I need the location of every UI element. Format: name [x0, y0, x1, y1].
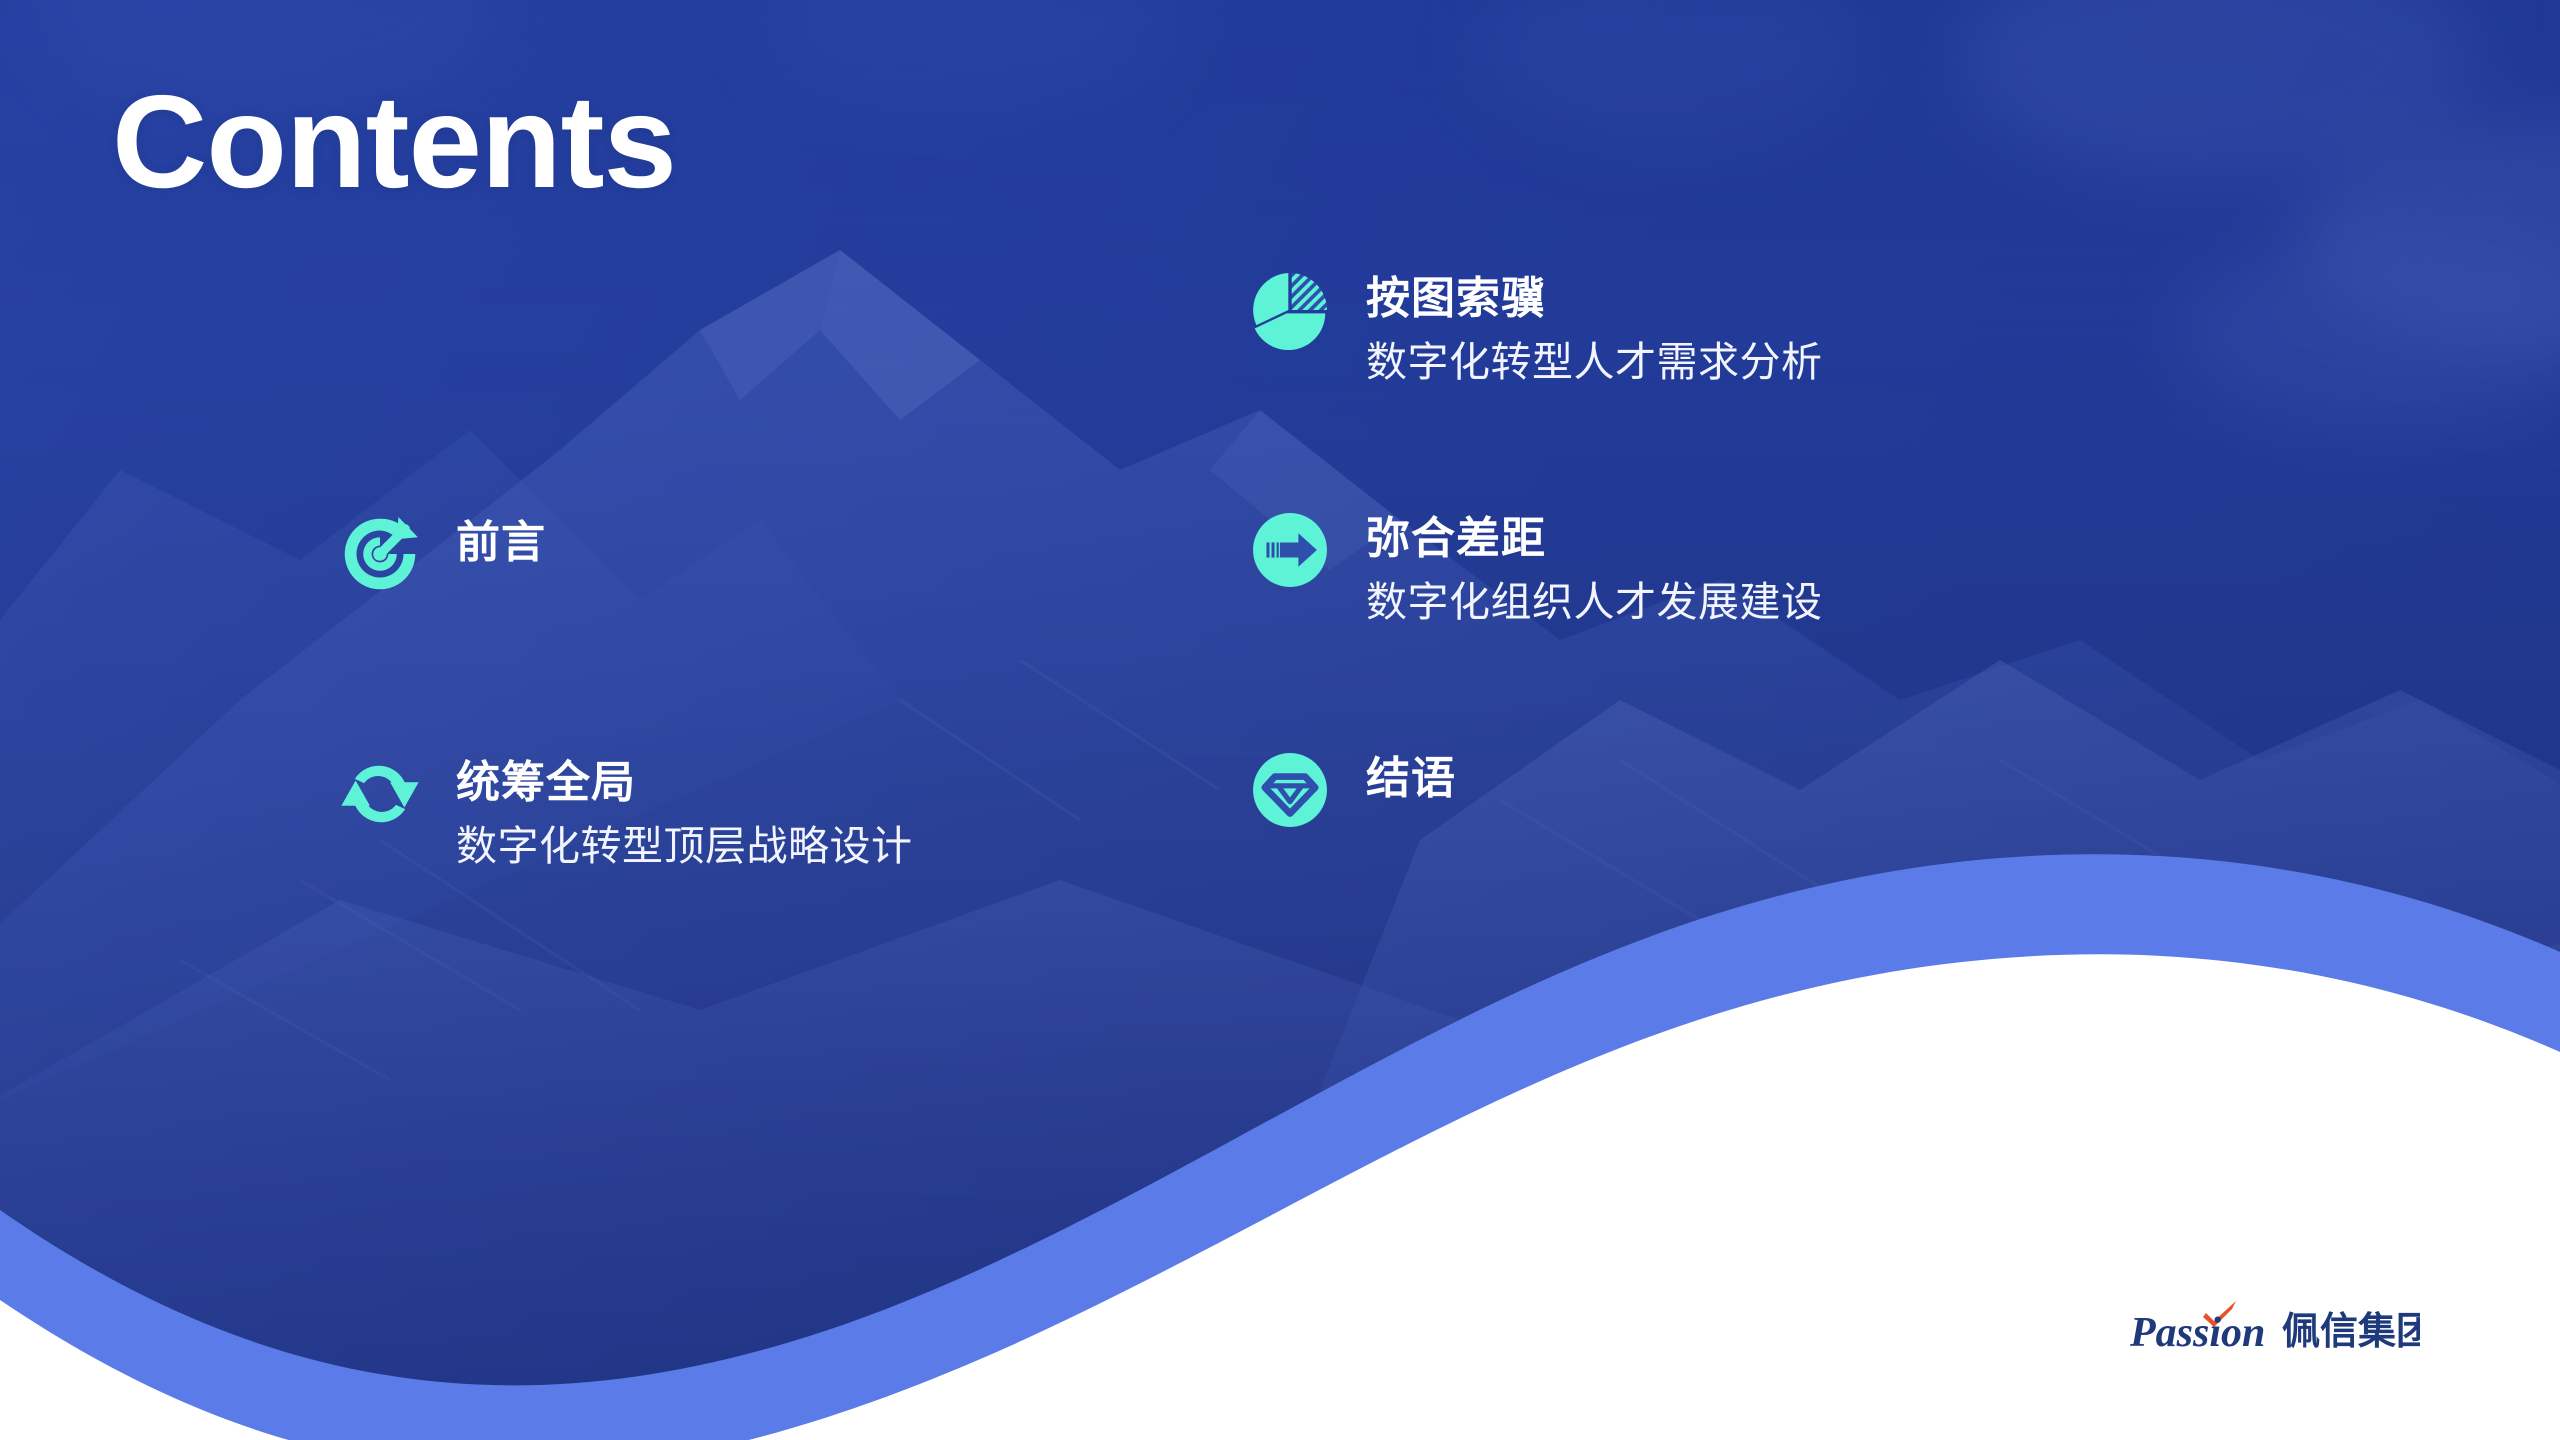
toc-item-title: 结语 — [1366, 754, 1456, 803]
slide-canvas: Contents 前言 — [0, 0, 2560, 1440]
toc-text-block: 按图索骥 数字化转型人才需求分析 — [1366, 268, 1823, 389]
page-title: Contents — [112, 76, 676, 208]
toc-item-subtitle: 数字化转型顶层战略设计 — [456, 821, 913, 872]
toc-text-block: 前言 — [456, 512, 546, 567]
toc-item-jieyu[interactable]: 结语 — [1248, 748, 1456, 832]
toc-item-title: 统筹全局 — [456, 758, 913, 807]
refresh-cycle-icon — [338, 752, 422, 836]
company-logo: Passion 佩信集团 — [2130, 1294, 2420, 1364]
toc-item-tongchouquanju[interactable]: 统筹全局 数字化转型顶层战略设计 — [338, 752, 913, 873]
toc-text-block: 结语 — [1366, 748, 1456, 803]
toc-item-mihechaju[interactable]: 弥合差距 数字化组织人才发展建设 — [1248, 508, 1823, 629]
toc-item-subtitle: 数字化组织人才发展建设 — [1366, 577, 1823, 628]
logo-chinese-name: 佩信集团 — [2282, 1311, 2420, 1353]
toc-item-subtitle: 数字化转型人才需求分析 — [1366, 337, 1823, 388]
pie-chart-icon — [1248, 268, 1332, 352]
toc-item-qianyan[interactable]: 前言 — [338, 512, 546, 596]
toc-item-antusuoji[interactable]: 按图索骥 数字化转型人才需求分析 — [1248, 268, 1823, 389]
logo-wordmark: Passion — [2130, 1310, 2265, 1356]
toc-item-title: 按图索骥 — [1366, 274, 1823, 323]
arrow-right-circle-icon — [1248, 508, 1332, 592]
toc-text-block: 统筹全局 数字化转型顶层战略设计 — [456, 752, 913, 873]
toc-item-title: 前言 — [456, 518, 546, 567]
toc-text-block: 弥合差距 数字化组织人才发展建设 — [1366, 508, 1823, 629]
toc-item-title: 弥合差距 — [1366, 514, 1823, 563]
target-arrow-icon — [338, 512, 422, 596]
logo-mark: Passion 佩信集团 — [2130, 1296, 2420, 1362]
diamond-circle-icon — [1248, 748, 1332, 832]
